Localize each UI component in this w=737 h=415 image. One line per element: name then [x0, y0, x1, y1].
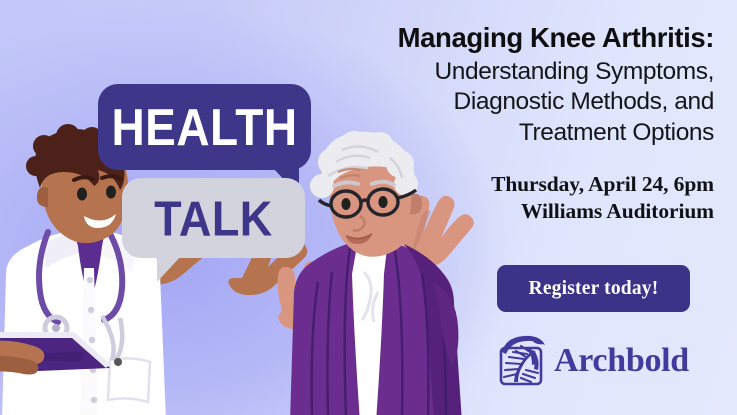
archbold-logo[interactable]: Archbold — [497, 334, 689, 387]
bubble-talk-tail-icon — [157, 256, 195, 282]
archbold-palm-emblem-icon — [497, 334, 547, 387]
subtitle-line-1: Understanding Symptoms, — [262, 57, 714, 87]
register-button[interactable]: Register today! — [497, 265, 690, 312]
event-details: Thursday, April 24, 6pm Williams Auditor… — [262, 171, 714, 225]
page-title: Managing Knee Arthritis: — [262, 22, 714, 54]
bubble-talk-label: TALK — [154, 193, 273, 243]
subtitle-line-2: Diagnostic Methods, and — [262, 87, 714, 117]
subtitle-line-3: Treatment Options — [262, 118, 714, 148]
archbold-wordmark: Archbold — [554, 344, 689, 378]
text-column: Managing Knee Arthritis: Understanding S… — [262, 22, 714, 225]
promo-poster: HEALTH TALK Managing Knee Arthritis: Und… — [0, 0, 737, 415]
page-subtitle: Understanding Symptoms, Diagnostic Metho… — [262, 57, 714, 148]
event-venue: Williams Auditorium — [262, 198, 714, 225]
event-datetime: Thursday, April 24, 6pm — [262, 171, 714, 198]
doctor-illustration — [0, 128, 292, 415]
